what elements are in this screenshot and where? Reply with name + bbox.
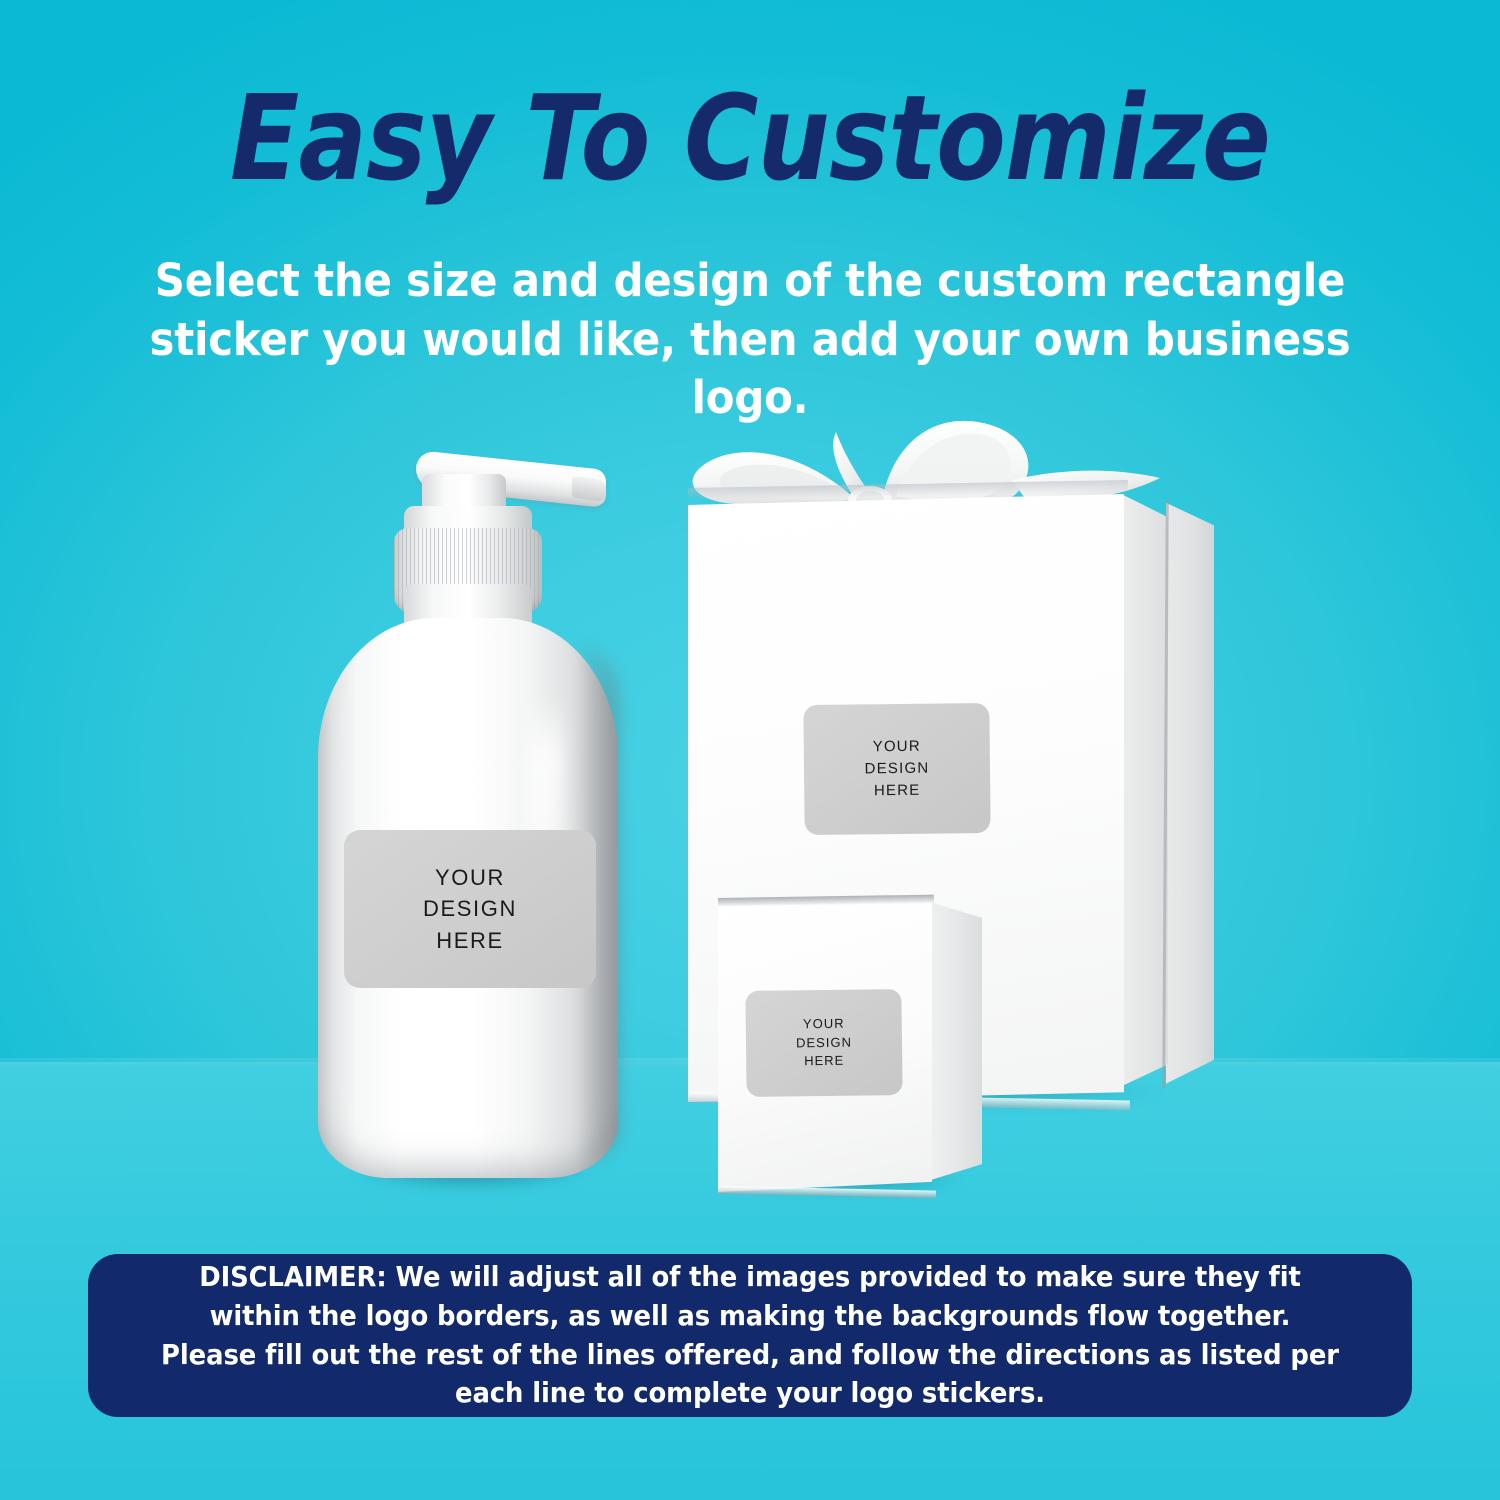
sticker-line-3: HERE xyxy=(436,925,504,956)
small-box-side-panel xyxy=(930,902,982,1190)
pump-nozzle-tip-icon xyxy=(572,476,606,503)
disclaimer-text: DISCLAIMER: We will adjust all of the im… xyxy=(128,1258,1373,1413)
gift-box-side-panel xyxy=(1122,492,1168,1092)
sticker-label-gift-box[interactable]: YOUR DESIGN HERE xyxy=(803,703,990,835)
product-small-box: YOUR DESIGN HERE xyxy=(702,890,1002,1220)
gift-box-lid-panel xyxy=(1166,498,1214,1092)
sticker-line-1: YOUR xyxy=(435,862,505,893)
sticker-line-2: DESIGN xyxy=(423,893,517,924)
page-title: Easy To Customize xyxy=(105,78,1395,198)
disclaimer-banner: DISCLAIMER: We will adjust all of the im… xyxy=(88,1254,1412,1417)
sticker-label-bottle[interactable]: YOUR DESIGN HERE xyxy=(344,830,596,988)
sticker-line-2: DESIGN xyxy=(865,758,930,781)
sticker-line-1: YOUR xyxy=(803,1014,845,1033)
sticker-line-2: DESIGN xyxy=(796,1033,852,1053)
sticker-line-1: YOUR xyxy=(873,735,921,758)
product-pump-bottle: YOUR DESIGN HERE xyxy=(300,432,640,1222)
infographic-canvas: Easy To Customize Select the size and de… xyxy=(0,0,1500,1500)
page-subtitle: Select the size and design of the custom… xyxy=(134,252,1365,428)
sticker-label-small-box[interactable]: YOUR DESIGN HERE xyxy=(745,989,902,1097)
sticker-line-3: HERE xyxy=(874,780,921,803)
sticker-line-3: HERE xyxy=(804,1052,844,1071)
